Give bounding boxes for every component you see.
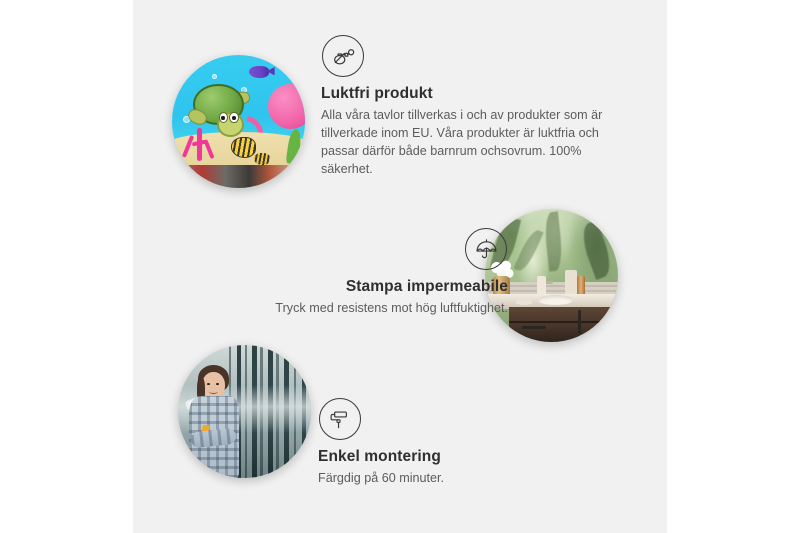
soap-dish	[516, 299, 532, 304]
photo-aquarium-kids-mural	[172, 55, 305, 188]
feature-title: Enkel montering	[318, 447, 578, 466]
feature-description: Färgdig på 60 minuter.	[318, 470, 578, 488]
cabinet-handle	[578, 310, 581, 334]
content-canvas: Luktfri produkt Alla våra tavlor tillver…	[133, 0, 667, 533]
turtle-eye	[229, 112, 238, 123]
photo-forest-mural-installer	[178, 345, 311, 478]
purple-fish-icon	[249, 66, 269, 78]
octopus-eye	[304, 99, 305, 106]
person-face	[202, 372, 225, 399]
feature-title: Luktfri produkt	[321, 84, 621, 103]
drawer-divider	[509, 321, 618, 323]
umbrella-icon	[465, 228, 507, 270]
wood-vanity-cabinet	[509, 307, 618, 342]
person-eye	[207, 383, 210, 385]
person-smile	[209, 389, 218, 394]
striped-fish-icon	[231, 137, 257, 158]
coral-icon	[180, 124, 220, 161]
page-root: Luktfri produkt Alla våra tavlor tillver…	[0, 0, 800, 533]
feature-easy-mounting: Enkel montering Färgdig på 60 minuter.	[318, 398, 578, 488]
room-photo-strip	[172, 165, 305, 188]
candle-object	[537, 276, 546, 296]
feature-title: Stampa impermeabile	[208, 277, 508, 296]
sink-basin	[538, 295, 573, 304]
candle-object	[565, 270, 577, 297]
paint-roller-icon	[319, 398, 361, 440]
no-spray-bottle-icon	[322, 35, 364, 77]
drawer-handle	[522, 326, 546, 329]
feature-waterproof: Stampa impermeabile Tryck med resistens …	[208, 228, 508, 318]
feature-odor-free: Luktfri produkt Alla våra tavlor tillver…	[321, 35, 621, 179]
aquarium-scene	[172, 55, 305, 188]
feature-description: Alla våra tavlor tillverkas i och av pro…	[321, 107, 603, 179]
forest-scene	[178, 345, 311, 478]
feature-description: Tryck med resistens mot hög luftfuktighe…	[208, 300, 508, 318]
